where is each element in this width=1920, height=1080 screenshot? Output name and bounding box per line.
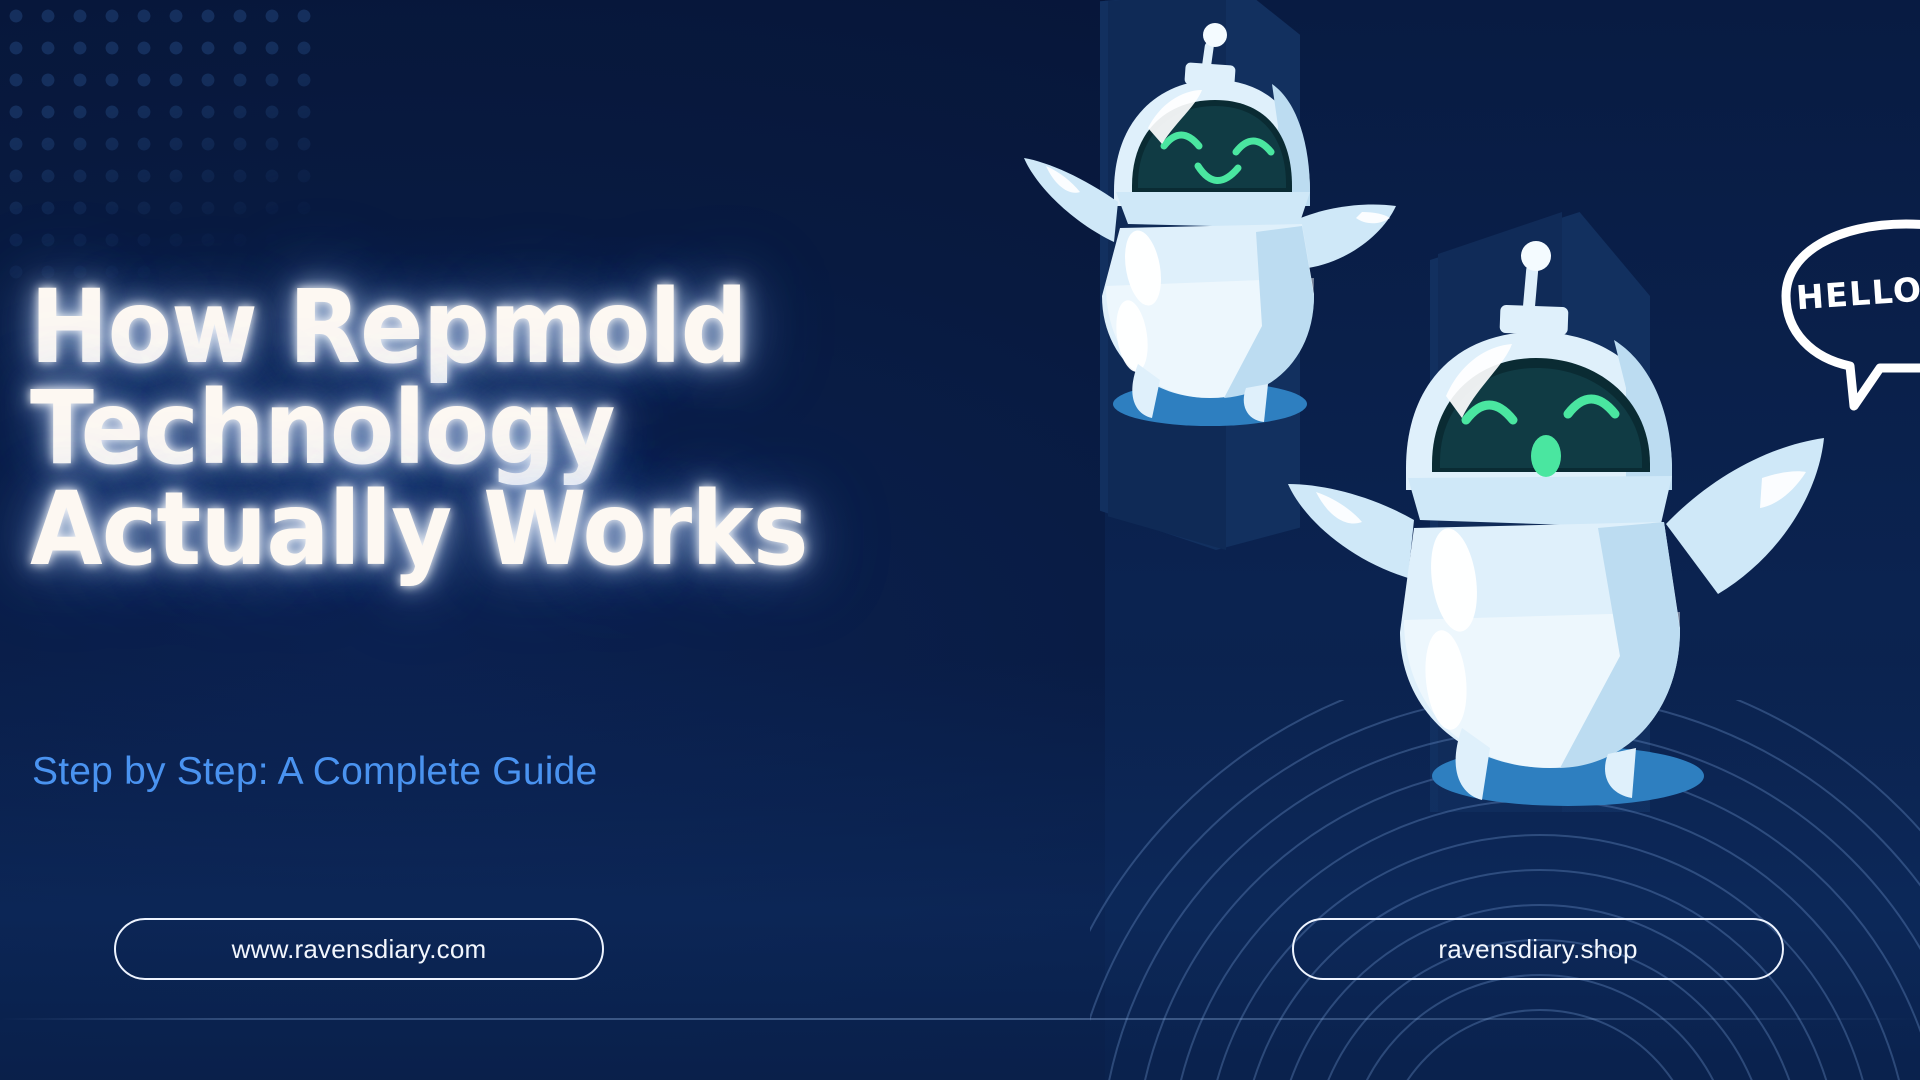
website-url-pill[interactable]: www.ravensdiary.com <box>114 918 604 980</box>
page-title-line-3: Actually Works <box>30 480 1014 581</box>
page-title-line-1: How Repmold <box>30 278 1014 379</box>
horizontal-hairline <box>0 1018 1920 1020</box>
banner-canvas: HELLO How Repmold Technology Actually Wo… <box>0 0 1920 1080</box>
shop-url-pill[interactable]: ravensdiary.shop <box>1292 918 1784 980</box>
website-url-label: www.ravensdiary.com <box>232 934 487 965</box>
page-subtitle: Step by Step: A Complete Guide <box>32 750 597 794</box>
dot-grid-pattern <box>0 0 324 294</box>
page-title-line-2: Technology <box>30 379 1014 480</box>
speech-bubble: HELLO <box>1742 218 1920 418</box>
page-title: How Repmold Technology Actually Works <box>30 278 1014 581</box>
shop-url-label: ravensdiary.shop <box>1438 934 1637 965</box>
